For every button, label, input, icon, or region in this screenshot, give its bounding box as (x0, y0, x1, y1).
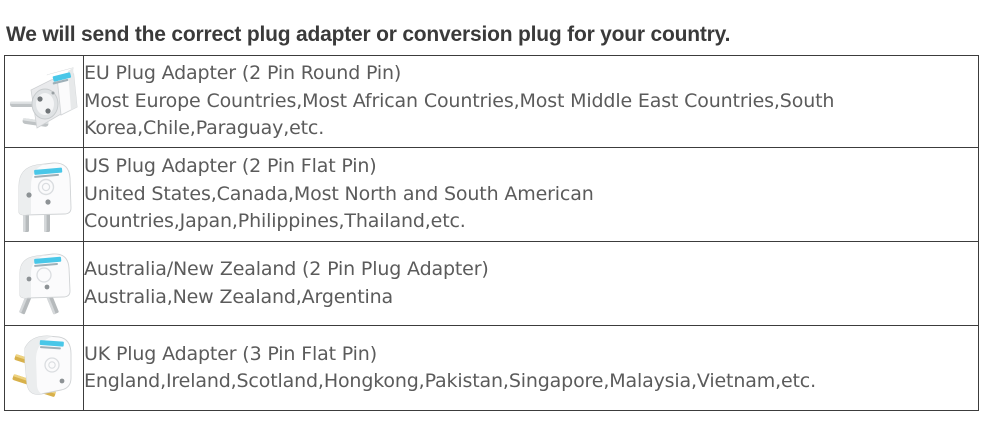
au-plug-adapter-icon (7, 245, 81, 323)
plug-title: Australia/New Zealand (2 Pin Plug Adapte… (84, 256, 978, 284)
table-row: UK Plug Adapter (3 Pin Flat Pin) England… (5, 326, 979, 411)
plug-description-cell: US Plug Adapter (2 Pin Flat Pin) United … (84, 148, 979, 242)
plug-title: EU Plug Adapter (2 Pin Round Pin) (84, 60, 978, 88)
plug-adapter-info-panel: We will send the correct plug adapter or… (0, 0, 994, 444)
table-row: Australia/New Zealand (2 Pin Plug Adapte… (5, 242, 979, 326)
plug-image-cell (5, 56, 84, 148)
us-plug-adapter-icon (7, 152, 81, 238)
plug-countries-line: United States,Canada,Most North and Sout… (84, 181, 978, 209)
plug-image-cell (5, 148, 84, 242)
uk-plug-adapter-icon (7, 328, 81, 408)
page-title: We will send the correct plug adapter or… (6, 22, 730, 47)
plug-title: US Plug Adapter (2 Pin Flat Pin) (84, 153, 978, 181)
plug-adapter-table: EU Plug Adapter (2 Pin Round Pin) Most E… (4, 55, 979, 411)
plug-countries-line: Most Europe Countries,Most African Count… (84, 88, 978, 116)
plug-countries-line: Countries,Japan,Philippines,Thailand,etc… (84, 208, 978, 236)
plug-description-cell: EU Plug Adapter (2 Pin Round Pin) Most E… (84, 56, 979, 148)
plug-title: UK Plug Adapter (3 Pin Flat Pin) (84, 341, 978, 369)
plug-countries-line: Australia,New Zealand,Argentina (84, 284, 978, 312)
plug-countries-line: England,Ireland,Scotland,Hongkong,Pakist… (84, 368, 978, 396)
table-row: EU Plug Adapter (2 Pin Round Pin) Most E… (5, 56, 979, 148)
table-row: US Plug Adapter (2 Pin Flat Pin) United … (5, 148, 979, 242)
plug-image-cell (5, 326, 84, 411)
eu-plug-adapter-icon (7, 60, 81, 144)
plug-description-cell: Australia/New Zealand (2 Pin Plug Adapte… (84, 242, 979, 326)
plug-image-cell (5, 242, 84, 326)
plug-countries-line: Korea,Chile,Paraguay,etc. (84, 115, 978, 143)
plug-description-cell: UK Plug Adapter (3 Pin Flat Pin) England… (84, 326, 979, 411)
